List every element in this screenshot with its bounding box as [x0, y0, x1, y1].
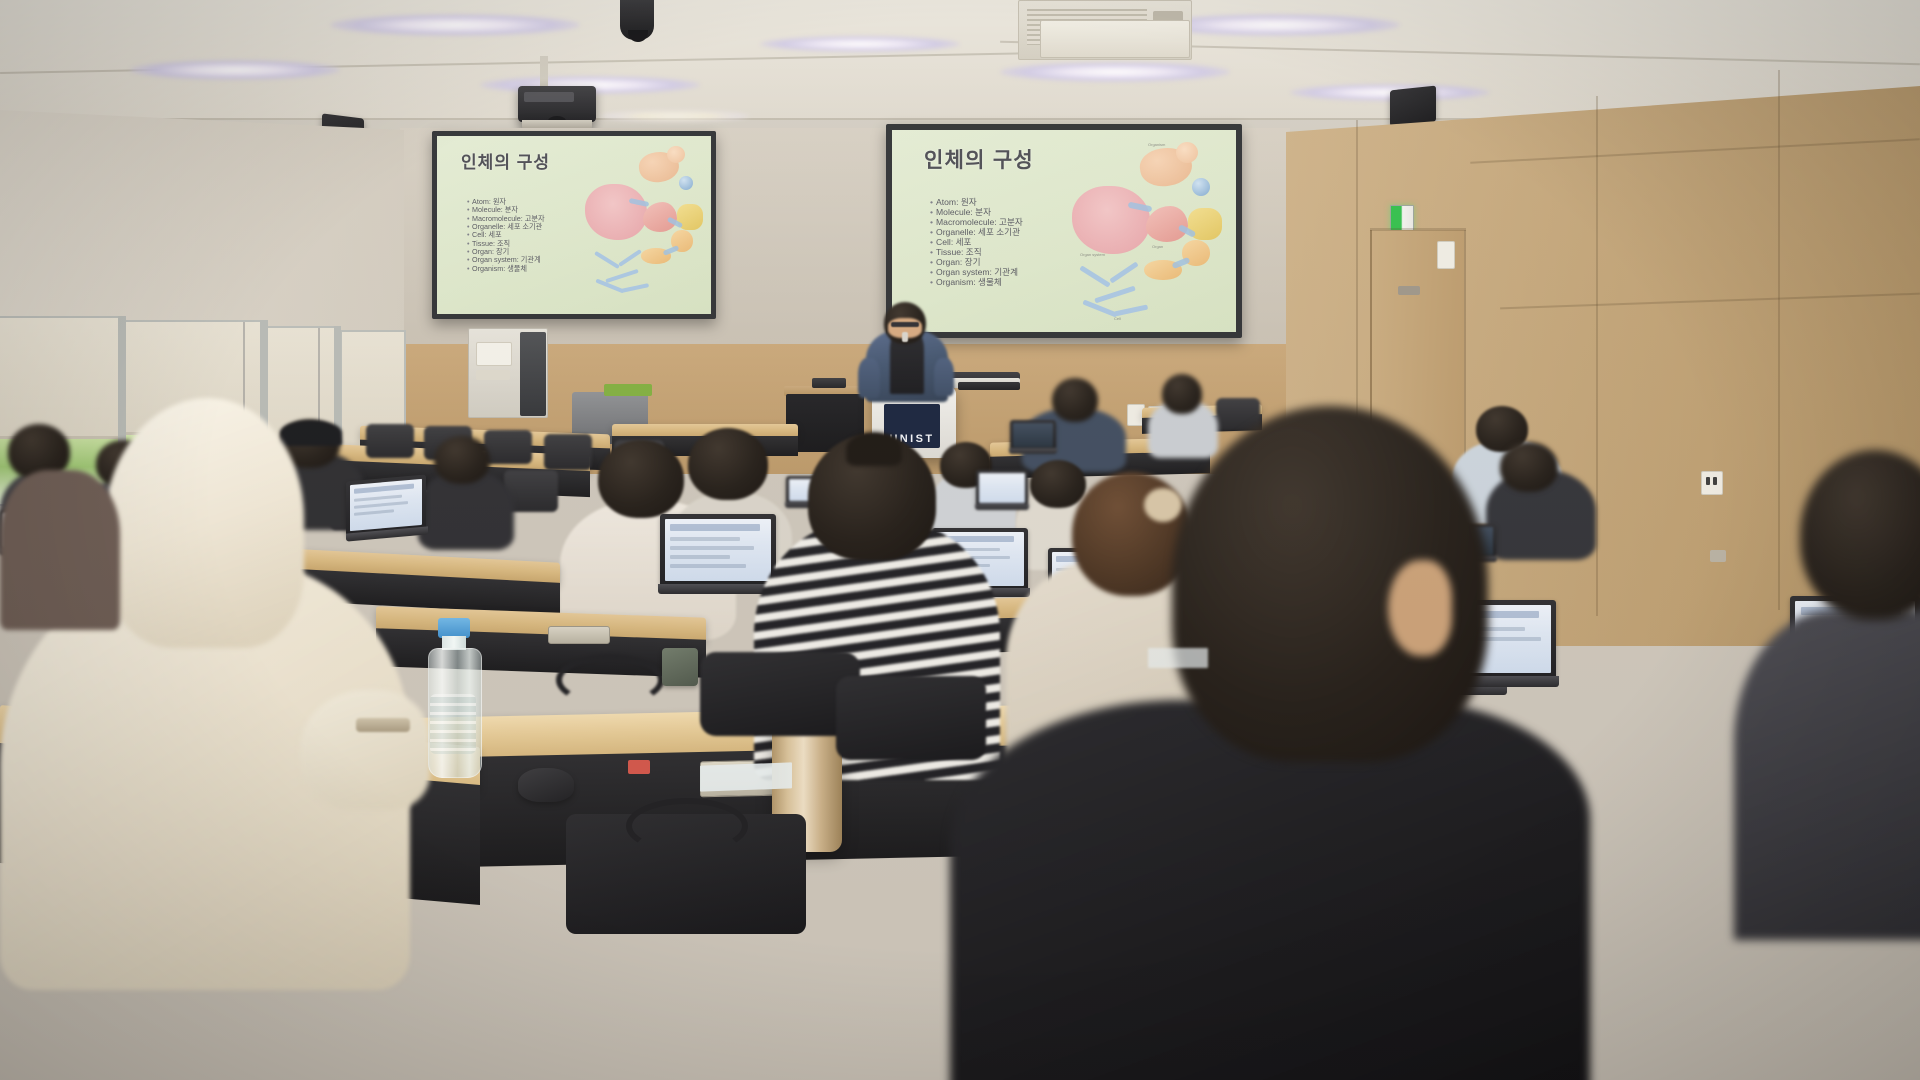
student-head — [1052, 378, 1098, 422]
student-ponytail — [846, 432, 902, 466]
chair[interactable] — [366, 424, 414, 458]
water-bottle[interactable] — [424, 618, 482, 778]
desk-power-port[interactable] — [548, 626, 610, 644]
eraser[interactable] — [628, 760, 650, 774]
table-equipment — [812, 378, 846, 388]
wall-outlet-plate[interactable] — [1701, 471, 1723, 495]
student-hoodie-arm — [300, 690, 430, 810]
computer-mouse[interactable] — [518, 768, 574, 802]
ceiling-light — [330, 14, 580, 36]
wall-panel-seam — [1596, 96, 1598, 616]
green-tray — [604, 384, 652, 396]
equipment-rack — [520, 332, 546, 416]
laptop[interactable] — [660, 514, 776, 598]
door-handle[interactable] — [1398, 286, 1420, 295]
hair-clip — [1144, 488, 1182, 522]
bag-handle[interactable] — [556, 654, 664, 706]
podium-side-shelf — [958, 382, 1020, 390]
control-panel[interactable] — [476, 342, 512, 366]
control-panel-slot — [476, 370, 510, 380]
chair[interactable] — [1216, 398, 1260, 430]
student-head — [434, 436, 490, 484]
chair[interactable] — [484, 430, 532, 464]
right-projection-screen: 인체의 구성 •Atom: 원자 •Molecule: 분자 •Macromol… — [886, 124, 1242, 338]
backpack-handle[interactable] — [626, 798, 748, 854]
door-frame-top — [1370, 228, 1466, 231]
student-head — [1162, 374, 1202, 414]
ceiling-light — [1000, 62, 1230, 82]
student-head — [1500, 442, 1558, 492]
student-ear — [1388, 560, 1452, 656]
paper-sheet[interactable] — [1148, 648, 1208, 668]
wall-switch-plate[interactable] — [1437, 241, 1455, 269]
slide-anatomy-diagram — [567, 144, 707, 312]
student-cap — [280, 420, 342, 446]
left-projection-screen: 인체의 구성 •Atom: 원자 •Molecule: 분자 •Macromol… — [432, 131, 716, 319]
lecture-hall-photo: 인체의 구성 •Atom: 원자 •Molecule: 분자 •Macromol… — [0, 0, 1920, 1080]
lecturer-arm-left — [858, 358, 880, 398]
microphone — [902, 332, 908, 342]
bag[interactable] — [836, 676, 986, 760]
student-head — [688, 428, 768, 500]
laptop[interactable] — [346, 478, 426, 542]
slide-title: 인체의 구성 — [461, 148, 550, 173]
lecturer-arm-right — [934, 358, 954, 396]
student-body — [0, 470, 120, 630]
wall-bracket — [1710, 550, 1726, 562]
paper-sheet[interactable] — [700, 762, 792, 791]
chair[interactable] — [544, 434, 592, 470]
smartphone[interactable] — [662, 648, 698, 686]
ceiling-light — [760, 36, 960, 52]
desk-item[interactable] — [356, 718, 410, 732]
slide-bullet-list: •Atom: 원자 •Molecule: 분자 •Macromolecule: … — [467, 198, 545, 273]
wall-speaker — [1390, 86, 1436, 127]
ceiling-light — [600, 110, 750, 122]
slide-title: 인체의 구성 — [924, 144, 1034, 174]
laptop[interactable] — [976, 470, 1028, 512]
ceiling-light — [130, 60, 340, 80]
student-hood — [104, 398, 304, 648]
student-head — [598, 440, 684, 518]
student-head — [1030, 460, 1086, 508]
lecturer-glasses — [891, 322, 919, 327]
laptop[interactable] — [1010, 420, 1056, 456]
wall-panel-seam — [1778, 70, 1780, 610]
air-conditioner-diffuser — [1040, 20, 1190, 58]
slide-anatomy-diagram: Organism Organ system Organ Tissue — [1052, 140, 1232, 332]
student-body — [1734, 610, 1920, 940]
slide-bullet-list: •Atom: 원자 •Molecule: 분자 •Macromolecule: … — [930, 198, 1023, 288]
blind-cord[interactable] — [318, 328, 320, 424]
